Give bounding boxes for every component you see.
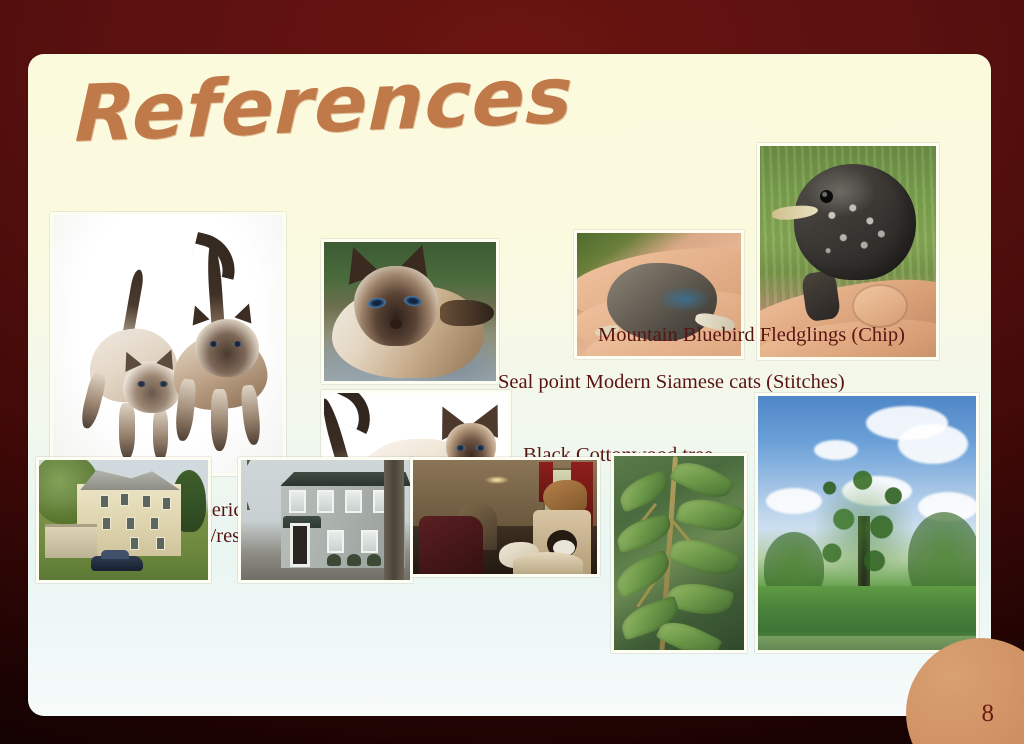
kitten-eye bbox=[233, 341, 242, 347]
caption-bluebird: Mountain Bluebird Fledglings (Chip) bbox=[598, 322, 905, 348]
page-number: 8 bbox=[982, 700, 995, 728]
leaf bbox=[614, 513, 674, 553]
slide-content-panel: References bbox=[28, 54, 991, 716]
house-window bbox=[347, 492, 360, 511]
cottonwood-leaves-photo bbox=[611, 453, 747, 653]
house-window bbox=[101, 496, 108, 507]
cat-tail bbox=[440, 300, 494, 326]
house-window bbox=[291, 492, 304, 511]
house-window bbox=[143, 496, 150, 507]
house-window bbox=[163, 498, 170, 509]
parked-car bbox=[91, 556, 143, 571]
fledgling-bird bbox=[794, 164, 916, 280]
house-door bbox=[293, 526, 307, 564]
house-window bbox=[329, 532, 342, 551]
kitten-right bbox=[165, 261, 277, 461]
kitten-head bbox=[195, 319, 259, 377]
page-title: References bbox=[74, 57, 574, 154]
house-porch bbox=[45, 524, 97, 558]
cat-nose bbox=[390, 320, 402, 329]
house-window bbox=[121, 494, 128, 505]
dog bbox=[543, 480, 587, 514]
house-window bbox=[319, 492, 332, 511]
living-room-interior-photo bbox=[410, 457, 600, 577]
house-window bbox=[127, 518, 134, 529]
table bbox=[513, 552, 583, 574]
house-window bbox=[103, 518, 110, 529]
caption-siamese: Seal point Modern Siamese cats (Stitches… bbox=[498, 369, 845, 395]
cat-head bbox=[354, 266, 438, 346]
armchair bbox=[419, 516, 483, 574]
cat-eye bbox=[456, 445, 465, 451]
leaf bbox=[615, 469, 673, 513]
cat-eye bbox=[476, 445, 485, 451]
kitten-leg bbox=[119, 403, 135, 459]
house-window bbox=[363, 532, 376, 551]
tree-trunk bbox=[384, 460, 404, 580]
shrub bbox=[347, 554, 361, 566]
kitten-leg bbox=[78, 372, 107, 430]
shrub bbox=[367, 554, 381, 566]
tree-canopy bbox=[806, 462, 924, 592]
house-window bbox=[131, 538, 138, 549]
bird-eye bbox=[820, 190, 833, 203]
old-farmhouse-photo bbox=[36, 457, 211, 583]
leaf bbox=[675, 492, 744, 538]
black-cottonwood-tree-photo bbox=[755, 393, 979, 653]
slide: References bbox=[0, 0, 1024, 744]
leaf bbox=[667, 530, 741, 583]
shrub bbox=[327, 554, 341, 566]
kitten-eye bbox=[209, 341, 218, 347]
cloud bbox=[898, 424, 968, 464]
wall-lamp bbox=[485, 476, 509, 484]
cloud bbox=[814, 440, 858, 460]
siamese-cat-on-cushion-photo bbox=[321, 239, 499, 384]
kitten-eye bbox=[137, 381, 146, 387]
house-window bbox=[157, 538, 164, 549]
kitten-leg bbox=[211, 389, 228, 451]
kitten-ear bbox=[186, 302, 209, 325]
two-siamese-kittens-photo: ©Warren Photographic bbox=[50, 212, 286, 476]
house-window bbox=[151, 518, 158, 529]
grey-colonial-house-photo bbox=[238, 457, 413, 583]
